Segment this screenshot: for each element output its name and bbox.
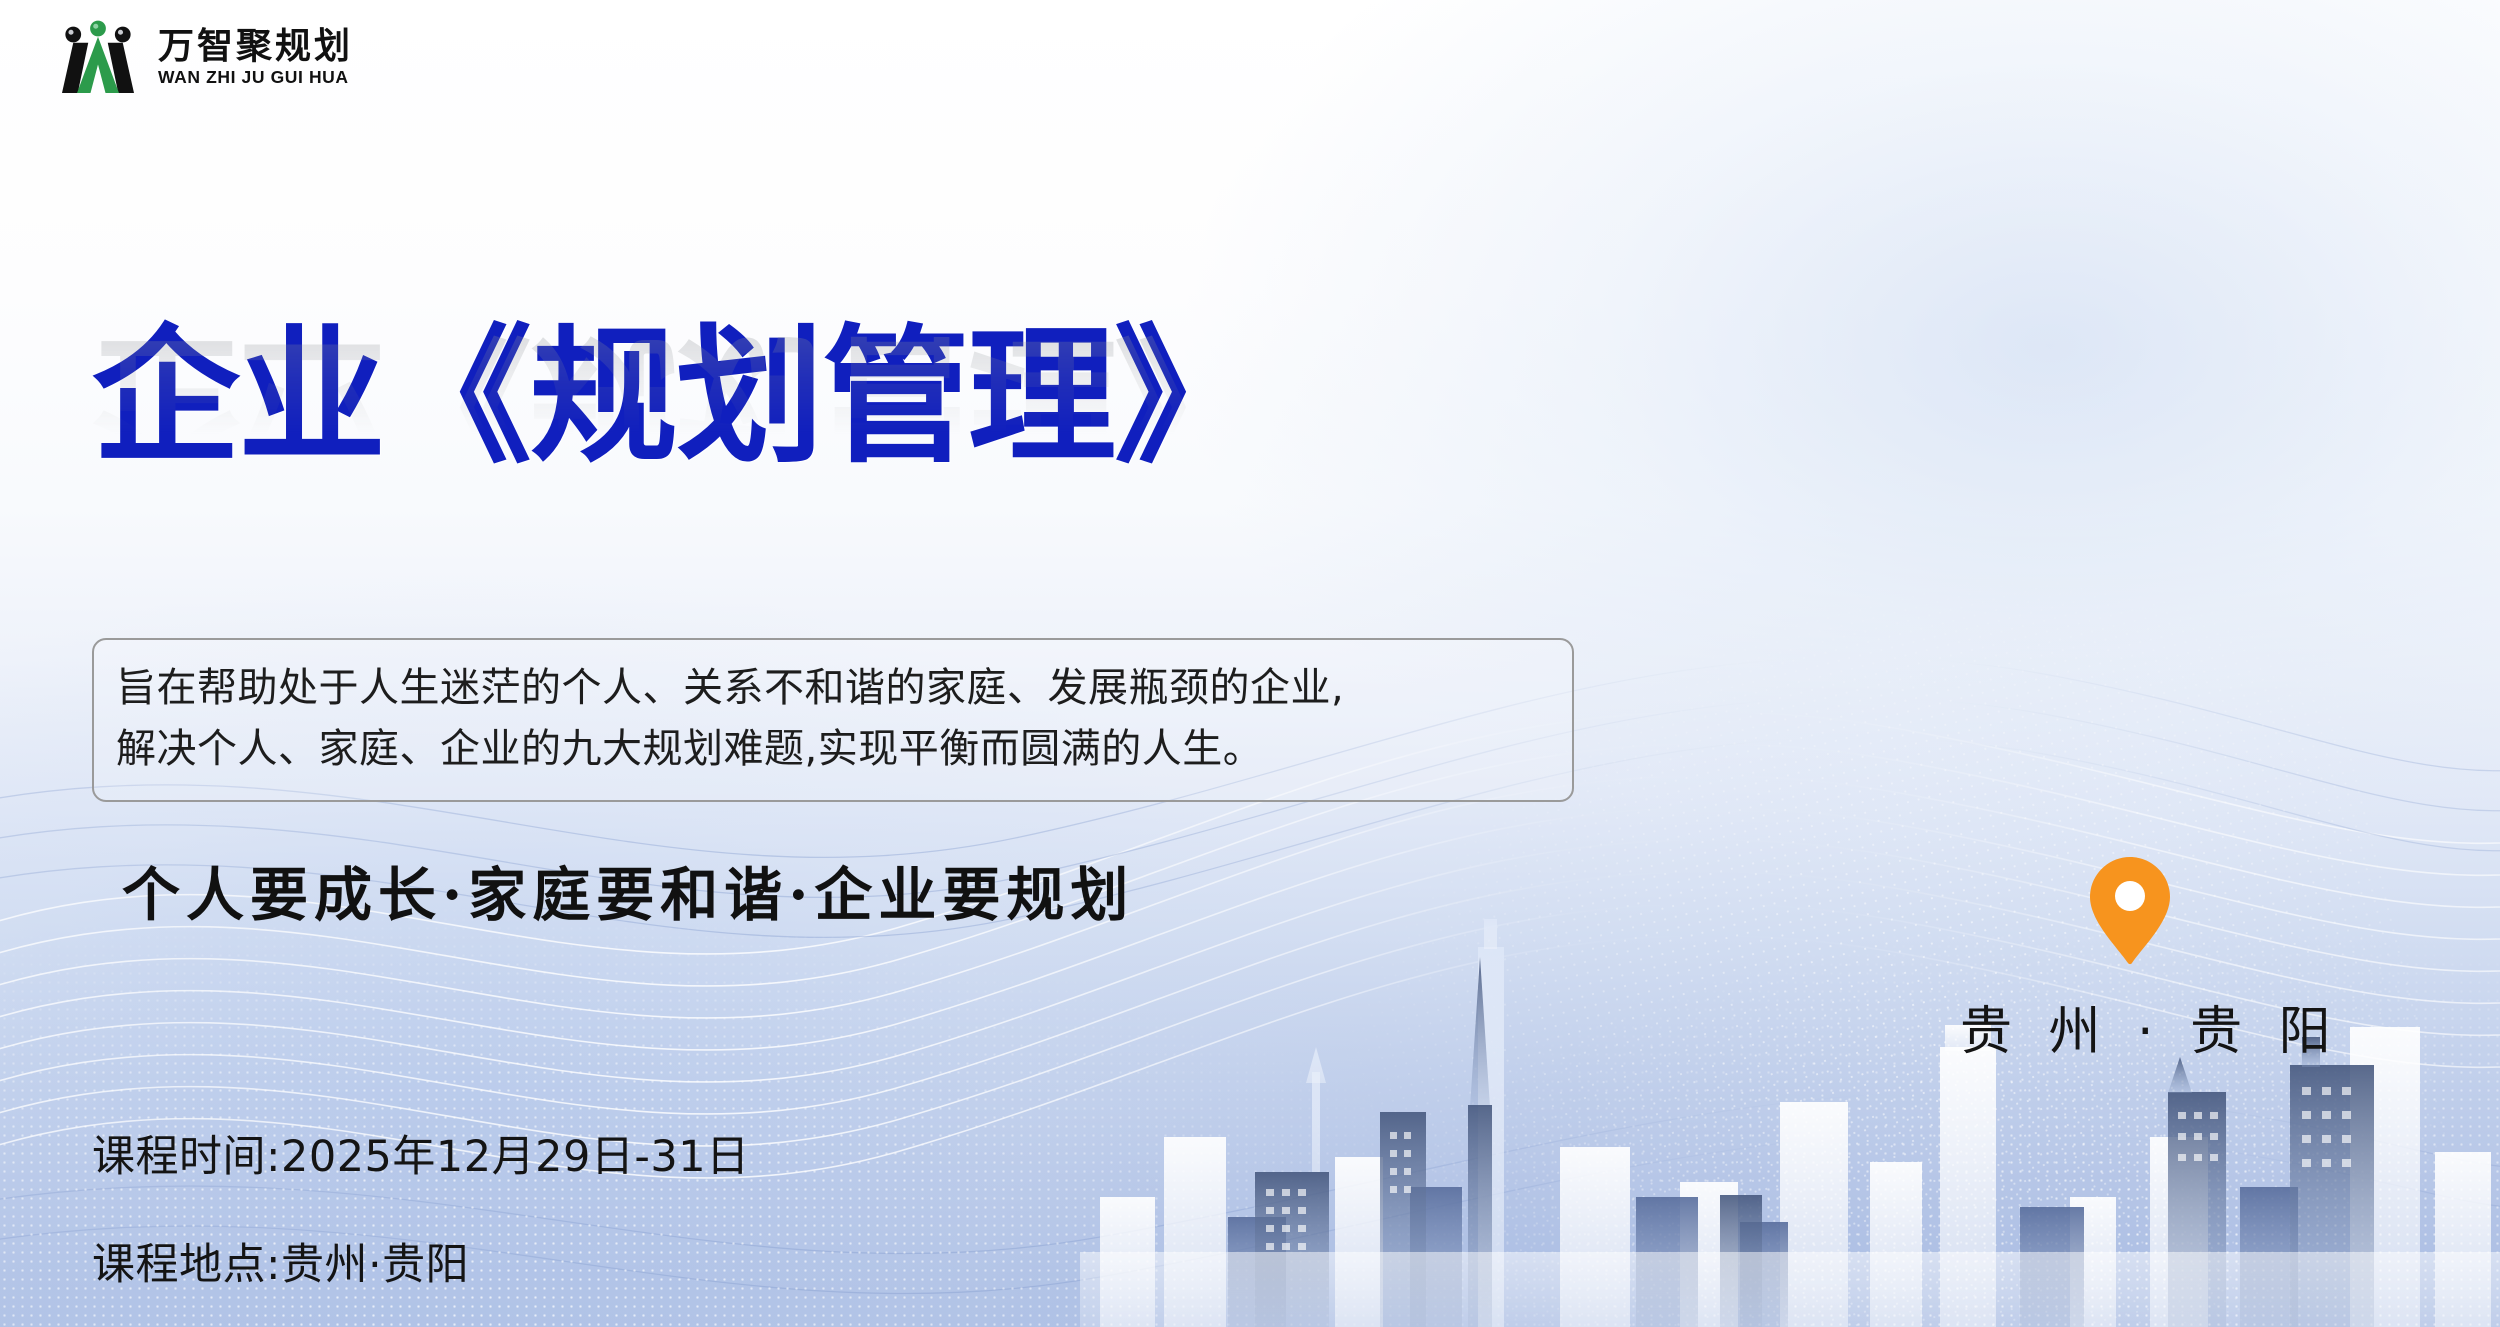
brand-name-cn: 万智聚规划: [158, 28, 353, 64]
location-label: 贵 州 · 贵 阳: [1960, 989, 2300, 1064]
three-people-logo-icon: [52, 18, 144, 96]
description-box: 旨在帮助处于人生迷茫的个人、关系不和谐的家庭、发展瓶颈的企业, 解决个人、家庭、…: [92, 638, 1574, 802]
course-time-row: 课程时间:2025年12月29日-31日: [92, 1122, 750, 1184]
brand-logo[interactable]: 万智聚规划 WAN ZHI JU GUI HUA: [52, 18, 353, 96]
course-info-block: 课程时间:2025年12月29日-31日 课程地点:贵州·贵阳: [92, 1122, 750, 1292]
course-place-row: 课程地点:贵州·贵阳: [92, 1230, 750, 1292]
description-line-2: 解决个人、家庭、企业的九大规划难题,实现平衡而圆满的人生。: [116, 719, 1550, 780]
slogan-text: 个人要成长·家庭要和谐·企业要规划: [122, 848, 1134, 932]
description-line-1: 旨在帮助处于人生迷茫的个人、关系不和谐的家庭、发展瓶颈的企业,: [116, 658, 1550, 719]
page-title-reflection: 企业《规划管理》: [92, 327, 1260, 477]
location-block: 贵 州 · 贵 阳: [1960, 855, 2300, 1064]
brand-logo-text: 万智聚规划 WAN ZHI JU GUI HUA: [158, 28, 353, 87]
brand-name-pinyin: WAN ZHI JU GUI HUA: [158, 69, 353, 87]
hero-title-block: 企业《规划管理》 企业《规划管理》: [92, 322, 1260, 627]
poster-canvas: 万智聚规划 WAN ZHI JU GUI HUA 企业《规划管理》 企业《规划管…: [0, 0, 2500, 1327]
map-pin-icon: [2087, 855, 2173, 967]
